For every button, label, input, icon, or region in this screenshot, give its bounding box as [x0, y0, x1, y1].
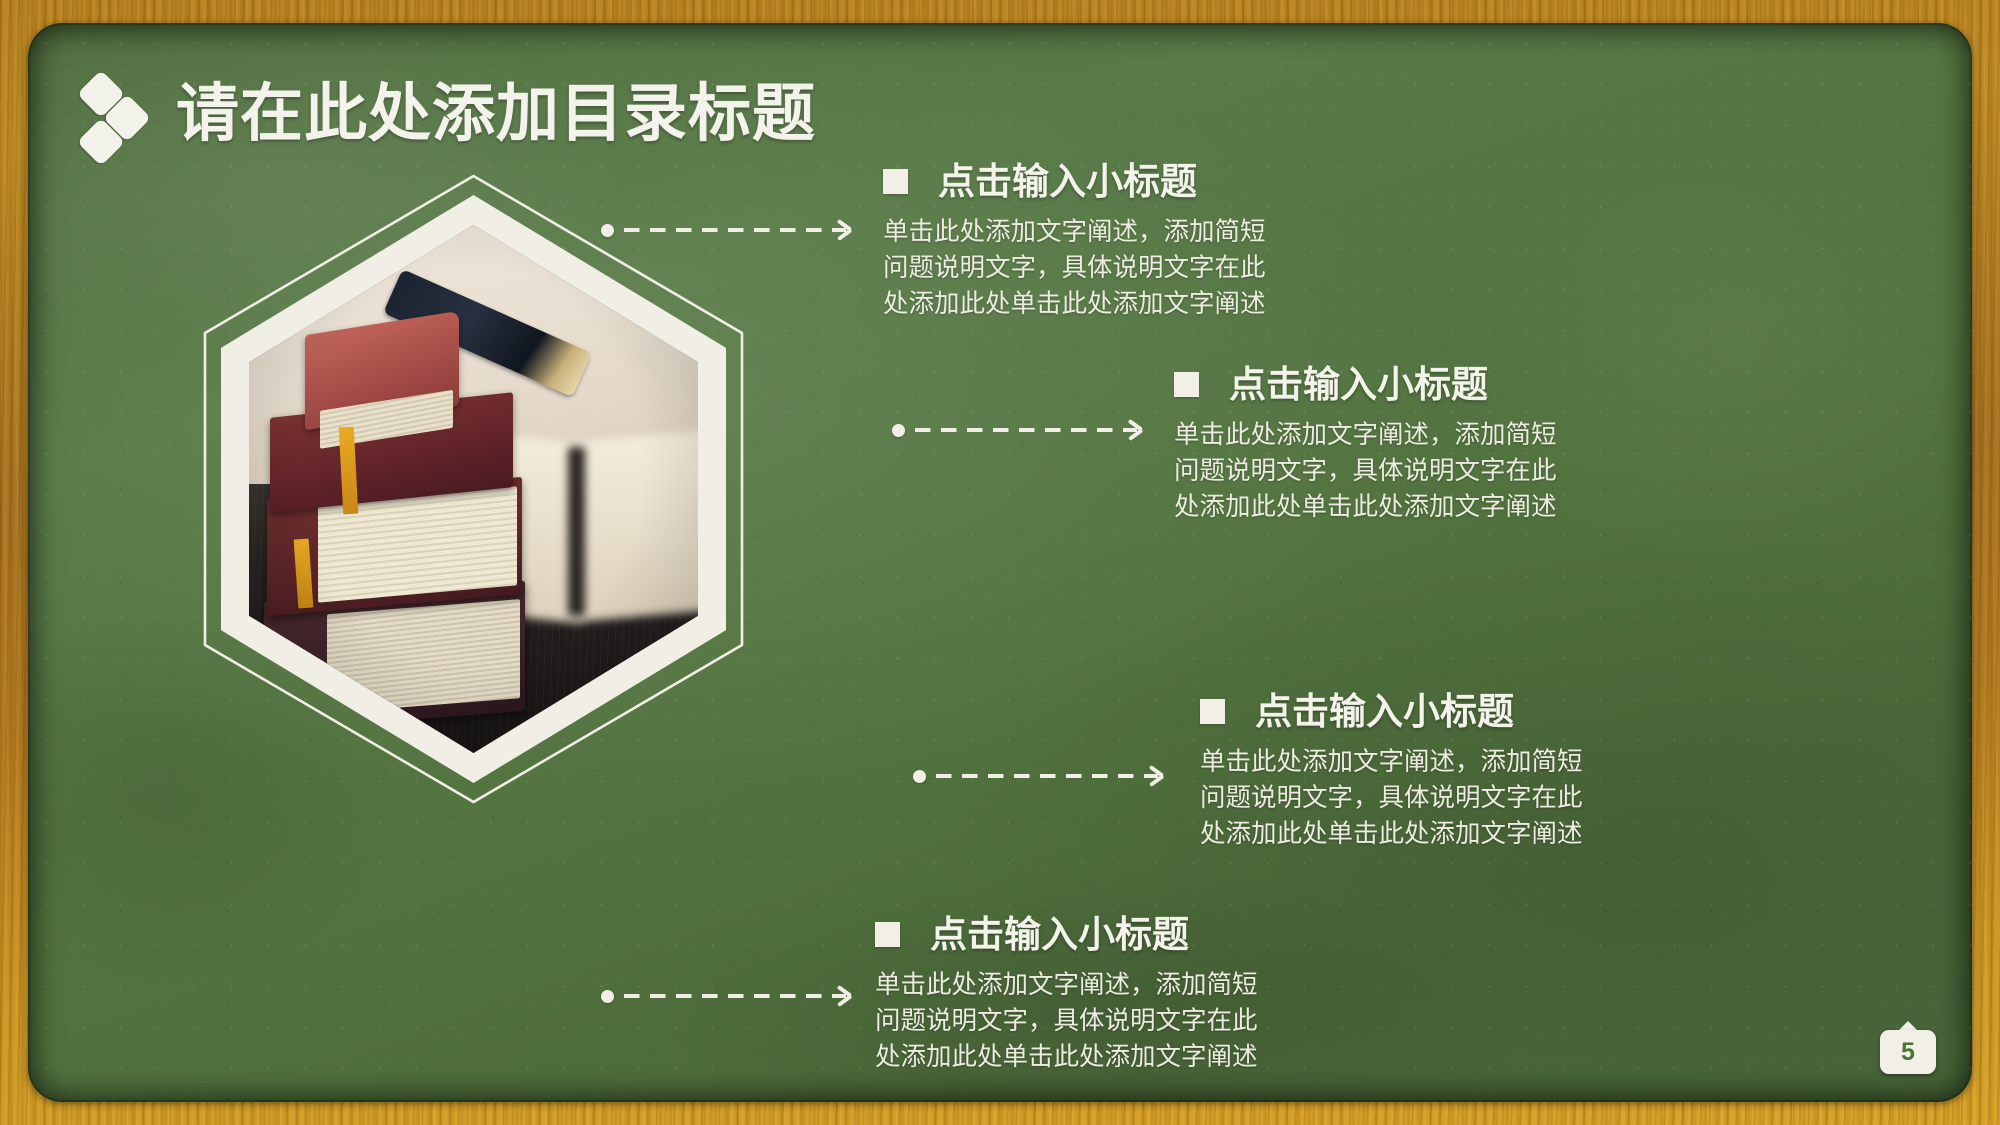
square-bullet-icon — [1174, 372, 1199, 397]
chalkboard-surface: 请在此处添加目录标题 — [28, 23, 1972, 1102]
square-bullet-icon — [883, 169, 908, 194]
block-heading-4: 点击输入小标题 — [875, 916, 1258, 953]
dashed-line — [936, 774, 1158, 778]
page-title: 请在此处添加目录标题 — [176, 83, 816, 146]
page-title-row: 请在此处添加目录标题 — [84, 71, 816, 157]
three-diamonds-icon — [84, 75, 154, 153]
content-block-2: 点击输入小标题 单击此处添加文字阐述，添加简短 问题说明文字，具体说明文字在此 … — [1174, 366, 1557, 526]
square-bullet-icon — [875, 922, 900, 947]
block-body-3: 单击此处添加文字阐述，添加简短 问题说明文字，具体说明文字在此 处添加此处单击此… — [1200, 744, 1583, 853]
block-title-2: 点击输入小标题 — [1229, 366, 1488, 403]
connector-dot-icon — [892, 424, 905, 437]
connector-arrow-2 — [892, 417, 1142, 443]
block-body-2: 单击此处添加文字阐述，添加简短 问题说明文字，具体说明文字在此 处添加此处单击此… — [1174, 417, 1557, 526]
connector-arrow-3 — [913, 763, 1163, 789]
dashed-line — [915, 428, 1137, 432]
content-block-3: 点击输入小标题 单击此处添加文字阐述，添加简短 问题说明文字，具体说明文字在此 … — [1200, 693, 1583, 853]
connector-dot-icon — [601, 224, 614, 237]
dashed-line — [624, 228, 846, 232]
connector-dot-icon — [601, 990, 614, 1003]
connector-arrow-4 — [601, 983, 851, 1009]
block-title-1: 点击输入小标题 — [938, 163, 1197, 200]
content-block-4: 点击输入小标题 单击此处添加文字阐述，添加简短 问题说明文字，具体说明文字在此 … — [875, 916, 1258, 1076]
badge-body: 5 — [1880, 1030, 1936, 1074]
page-number: 5 — [1901, 1040, 1915, 1065]
slide-canvas: 请在此处添加目录标题 — [0, 0, 2000, 1125]
block-title-3: 点击输入小标题 — [1255, 693, 1514, 730]
block-heading-1: 点击输入小标题 — [883, 163, 1266, 200]
content-block-1: 点击输入小标题 单击此处添加文字阐述，添加简短 问题说明文字，具体说明文字在此 … — [883, 163, 1266, 323]
dashed-line — [624, 994, 846, 998]
hexagon-photo-frame — [201, 172, 746, 806]
connector-dot-icon — [913, 770, 926, 783]
square-bullet-icon — [1200, 699, 1225, 724]
block-heading-2: 点击输入小标题 — [1174, 366, 1557, 403]
page-number-badge: 5 — [1880, 1030, 1936, 1074]
block-body-4: 单击此处添加文字阐述，添加简短 问题说明文字，具体说明文字在此 处添加此处单击此… — [875, 967, 1258, 1076]
block-body-1: 单击此处添加文字阐述，添加简短 问题说明文字，具体说明文字在此 处添加此处单击此… — [883, 214, 1266, 323]
block-title-4: 点击输入小标题 — [930, 916, 1189, 953]
block-heading-3: 点击输入小标题 — [1200, 693, 1583, 730]
connector-arrow-1 — [601, 217, 851, 243]
